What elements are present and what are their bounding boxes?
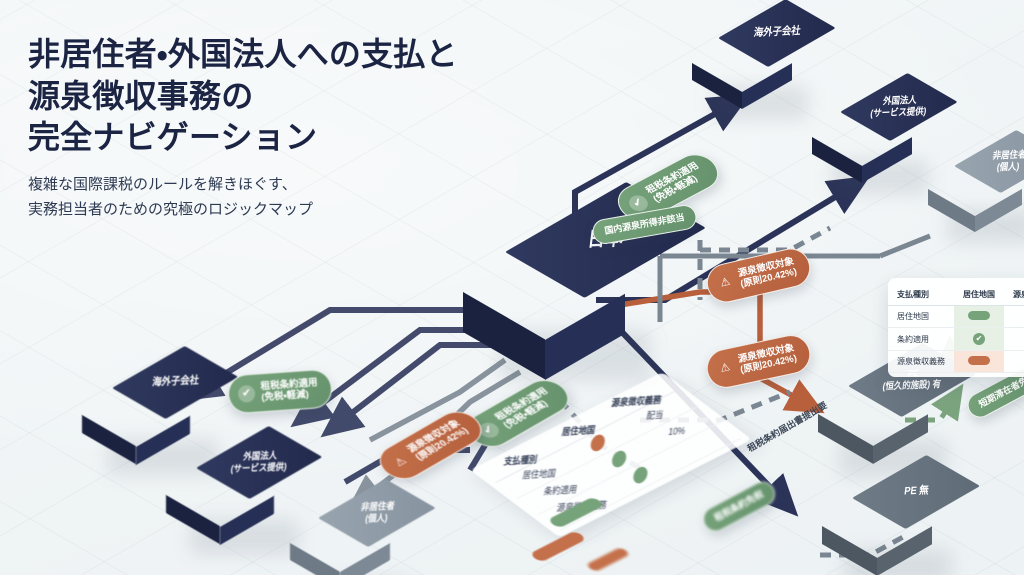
node-nonresident-right-sub: (個人) [996, 161, 1020, 173]
circle-green-icon [632, 467, 649, 484]
page-title-line-2: 源泉徴収事務の [28, 76, 458, 118]
badge-treaty-application-left[interactable]: ✔ 租税条約適用 (免税・軽減) [227, 368, 333, 414]
legend-header-type: 支払種別 [888, 286, 954, 306]
node-pe-no-label: PE 無 [903, 485, 929, 499]
warning-icon: ⚠ [715, 273, 735, 293]
page-title: 非居住者・外国法人への支払と 源泉徴収事務の 完全ナビゲーション [28, 34, 458, 159]
legend-cell-rate: 15 [1004, 351, 1024, 373]
legend-cell-type: 居住地国 [888, 306, 954, 328]
headline-block: 非居住者・外国法人への支払と 源泉徴収事務の 完全ナビゲーション 複雑な国際課税… [28, 34, 458, 222]
circle-orange-icon [589, 434, 606, 451]
legend-row[interactable]: 居住地国 - [888, 306, 1024, 328]
chip-orange-icon [968, 356, 990, 365]
node-overseas-subsidiary-right-label: 海外子会社 [753, 25, 801, 40]
node-overseas-subsidiary-left-label: 海外子会社 [151, 375, 199, 390]
legend-header-withholding: 源泉徴収 [1004, 286, 1024, 306]
node-nonresident-left-label: 非居住者 [360, 500, 395, 512]
page-title-line-3: 完全ナビゲーション [28, 117, 458, 159]
legend-row[interactable]: 源泉徴収義務 15 [888, 351, 1024, 373]
infographic-canvas: 日本 海外子会社 外国法人 (サービス提供) 非居住者 (個人) [0, 0, 1024, 575]
chip-green-icon [968, 311, 990, 320]
node-nonresident-right-label: 非居住者 [992, 149, 1024, 161]
page-subtitle-line-2: 実務担当者のための究極のロジックマップ [28, 198, 458, 223]
legend-cell-mark [954, 351, 1004, 373]
page-title-line-1: 非居住者・外国法人への支払と [28, 34, 458, 76]
legend-table[interactable]: 支払種別 居住地国 源泉徴収 居住地国 - 条約適用 ✔ 10 源泉徴収義務 [888, 278, 1024, 377]
node-foreign-corporation-left-label: 外国法人 [243, 450, 278, 462]
check-icon: ✔ [238, 385, 256, 403]
warning-icon: ⚠ [715, 358, 735, 378]
page-subtitle-line-1: 複雑な国際課税のルールを解きほぐす、 [28, 173, 458, 198]
node-pe-yes-sub: (恒久的施設) 有 [882, 379, 942, 392]
legend-cell-rate: - [1004, 306, 1024, 328]
legend-cell-type: 条約適用 [888, 328, 954, 351]
check-circle-icon: ✔ [973, 333, 985, 345]
legend-cell-rate: 10 [1004, 328, 1024, 351]
legend-header-country: 居住地国 [954, 286, 1004, 306]
node-foreign-corporation-left-sub: (サービス提供) [230, 461, 287, 474]
legend-cell-mark [954, 306, 1004, 328]
badge-treaty-application-left-line2: (免税・軽減) [261, 389, 319, 404]
node-foreign-corporation-right-sub: (サービス提供) [870, 106, 927, 119]
circle-green-icon [610, 451, 627, 468]
node-nonresident-left-sub: (個人) [364, 513, 388, 525]
node-foreign-corporation-right-label: 外国法人 [882, 94, 917, 106]
legend-header-row: 支払種別 居住地国 源泉徴収 [888, 286, 1024, 306]
legend-cell-mark: ✔ [954, 328, 1004, 351]
legend-cell-type: 源泉徴収義務 [888, 351, 954, 373]
legend-row[interactable]: 条約適用 ✔ 10 [888, 328, 1024, 351]
warning-icon: ⚠ [387, 452, 414, 473]
page-subtitle: 複雑な国際課税のルールを解きほぐす、 実務担当者のための究極のロジックマップ [28, 173, 458, 223]
